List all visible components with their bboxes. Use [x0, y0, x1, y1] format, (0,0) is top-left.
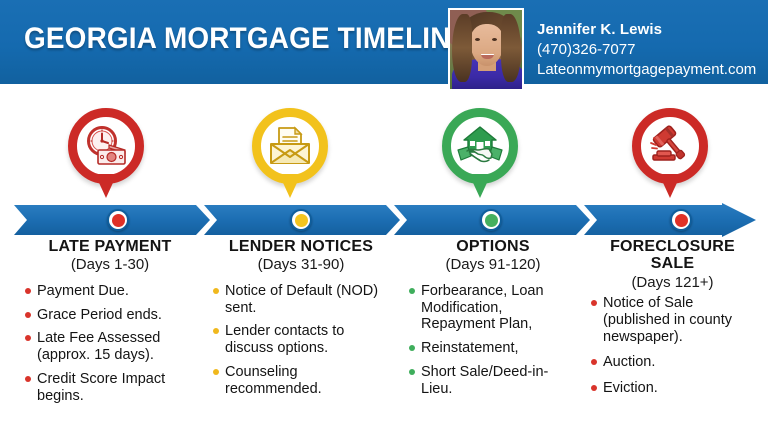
agent-website[interactable]: Lateonmymortgagepayment.com: [537, 60, 756, 80]
gavel-icon: [646, 122, 694, 170]
stage-column-foreclosure-sale: FORECLOSURE SALE (Days 121+) Notice of S…: [590, 238, 755, 406]
stage-column-options: OPTIONS (Days 91-120) Forbearance, Loan …: [408, 238, 578, 405]
agent-name: Jennifer K. Lewis: [537, 20, 756, 40]
stage-title: FORECLOSURE SALE: [590, 238, 755, 273]
node-dot: [675, 214, 688, 227]
node-dot: [485, 214, 498, 227]
agent-contact-block: Jennifer K. Lewis (470)326-7077 Lateonmy…: [537, 20, 756, 79]
list-item: Counseling recommended.: [212, 364, 390, 398]
list-item: Reinstatement,: [408, 340, 578, 357]
stage-pin-late-payment[interactable]: [68, 108, 144, 202]
timeline-node-foreclosure-sale[interactable]: [670, 209, 692, 231]
stage-bullet-list: Notice of Default (NOD) sent. Lender con…: [212, 283, 390, 398]
portrait-eye-right: [492, 38, 497, 41]
agent-portrait-photo: [448, 8, 524, 91]
stage-days: (Days 31-90): [212, 257, 390, 274]
envelope-letter-icon: [266, 122, 314, 170]
stage-bullet-list: Forbearance, Loan Modification, Repaymen…: [408, 283, 578, 398]
stage-pin-lender-notices[interactable]: [252, 108, 328, 202]
list-item: Lender contacts to discuss options.: [212, 323, 390, 357]
stage-days: (Days 121+): [590, 275, 755, 292]
list-item: Late Fee Assessed (approx. 15 days).: [24, 330, 196, 364]
list-item: Auction.: [590, 354, 755, 371]
pin-tail: [469, 174, 491, 198]
list-item: Forbearance, Loan Modification, Repaymen…: [408, 283, 578, 333]
list-item: Payment Due.: [24, 283, 196, 300]
portrait-eye-left: [475, 38, 480, 41]
stage-days: (Days 1-30): [24, 257, 196, 274]
agent-phone[interactable]: (470)326-7077: [537, 40, 756, 60]
stage-title: LENDER NOTICES: [212, 238, 390, 255]
timeline-node-lender-notices[interactable]: [290, 209, 312, 231]
house-handshake-icon: [456, 122, 504, 170]
list-item: Credit Score Impact begins.: [24, 371, 196, 405]
stage-bullet-list: Payment Due. Grace Period ends. Late Fee…: [24, 283, 196, 405]
list-item: Notice of Sale (published in county news…: [590, 295, 755, 345]
stage-bullet-list: Notice of Sale (published in county news…: [590, 295, 755, 397]
timeline-node-options[interactable]: [480, 209, 502, 231]
page-title: GEORGIA MORTGAGE TIMELINE: [24, 22, 469, 56]
stage-days: (Days 91-120): [408, 257, 578, 274]
pin-tail: [279, 174, 301, 198]
list-item: Notice of Default (NOD) sent.: [212, 283, 390, 317]
stage-pin-foreclosure-sale[interactable]: [632, 108, 708, 202]
stage-column-late-payment: LATE PAYMENT (Days 1-30) Payment Due. Gr…: [24, 238, 196, 412]
list-item: Grace Period ends.: [24, 307, 196, 324]
stage-title: OPTIONS: [408, 238, 578, 255]
pin-tail: [95, 174, 117, 198]
list-item: Eviction.: [590, 380, 755, 397]
node-dot: [112, 214, 125, 227]
timeline-node-late-payment[interactable]: [107, 209, 129, 231]
portrait-hair-left: [452, 14, 472, 82]
stage-column-lender-notices: LENDER NOTICES (Days 31-90) Notice of De…: [212, 238, 390, 405]
stage-pin-options[interactable]: [442, 108, 518, 202]
clock-money-icon: [82, 122, 130, 170]
node-dot: [295, 214, 308, 227]
pin-tail: [659, 174, 681, 198]
list-item: Short Sale/Deed-in-Lieu.: [408, 364, 578, 398]
header-banner: GEORGIA MORTGAGE TIMELINE Jennifer K. Le…: [0, 0, 768, 84]
stage-title: LATE PAYMENT: [24, 238, 196, 255]
